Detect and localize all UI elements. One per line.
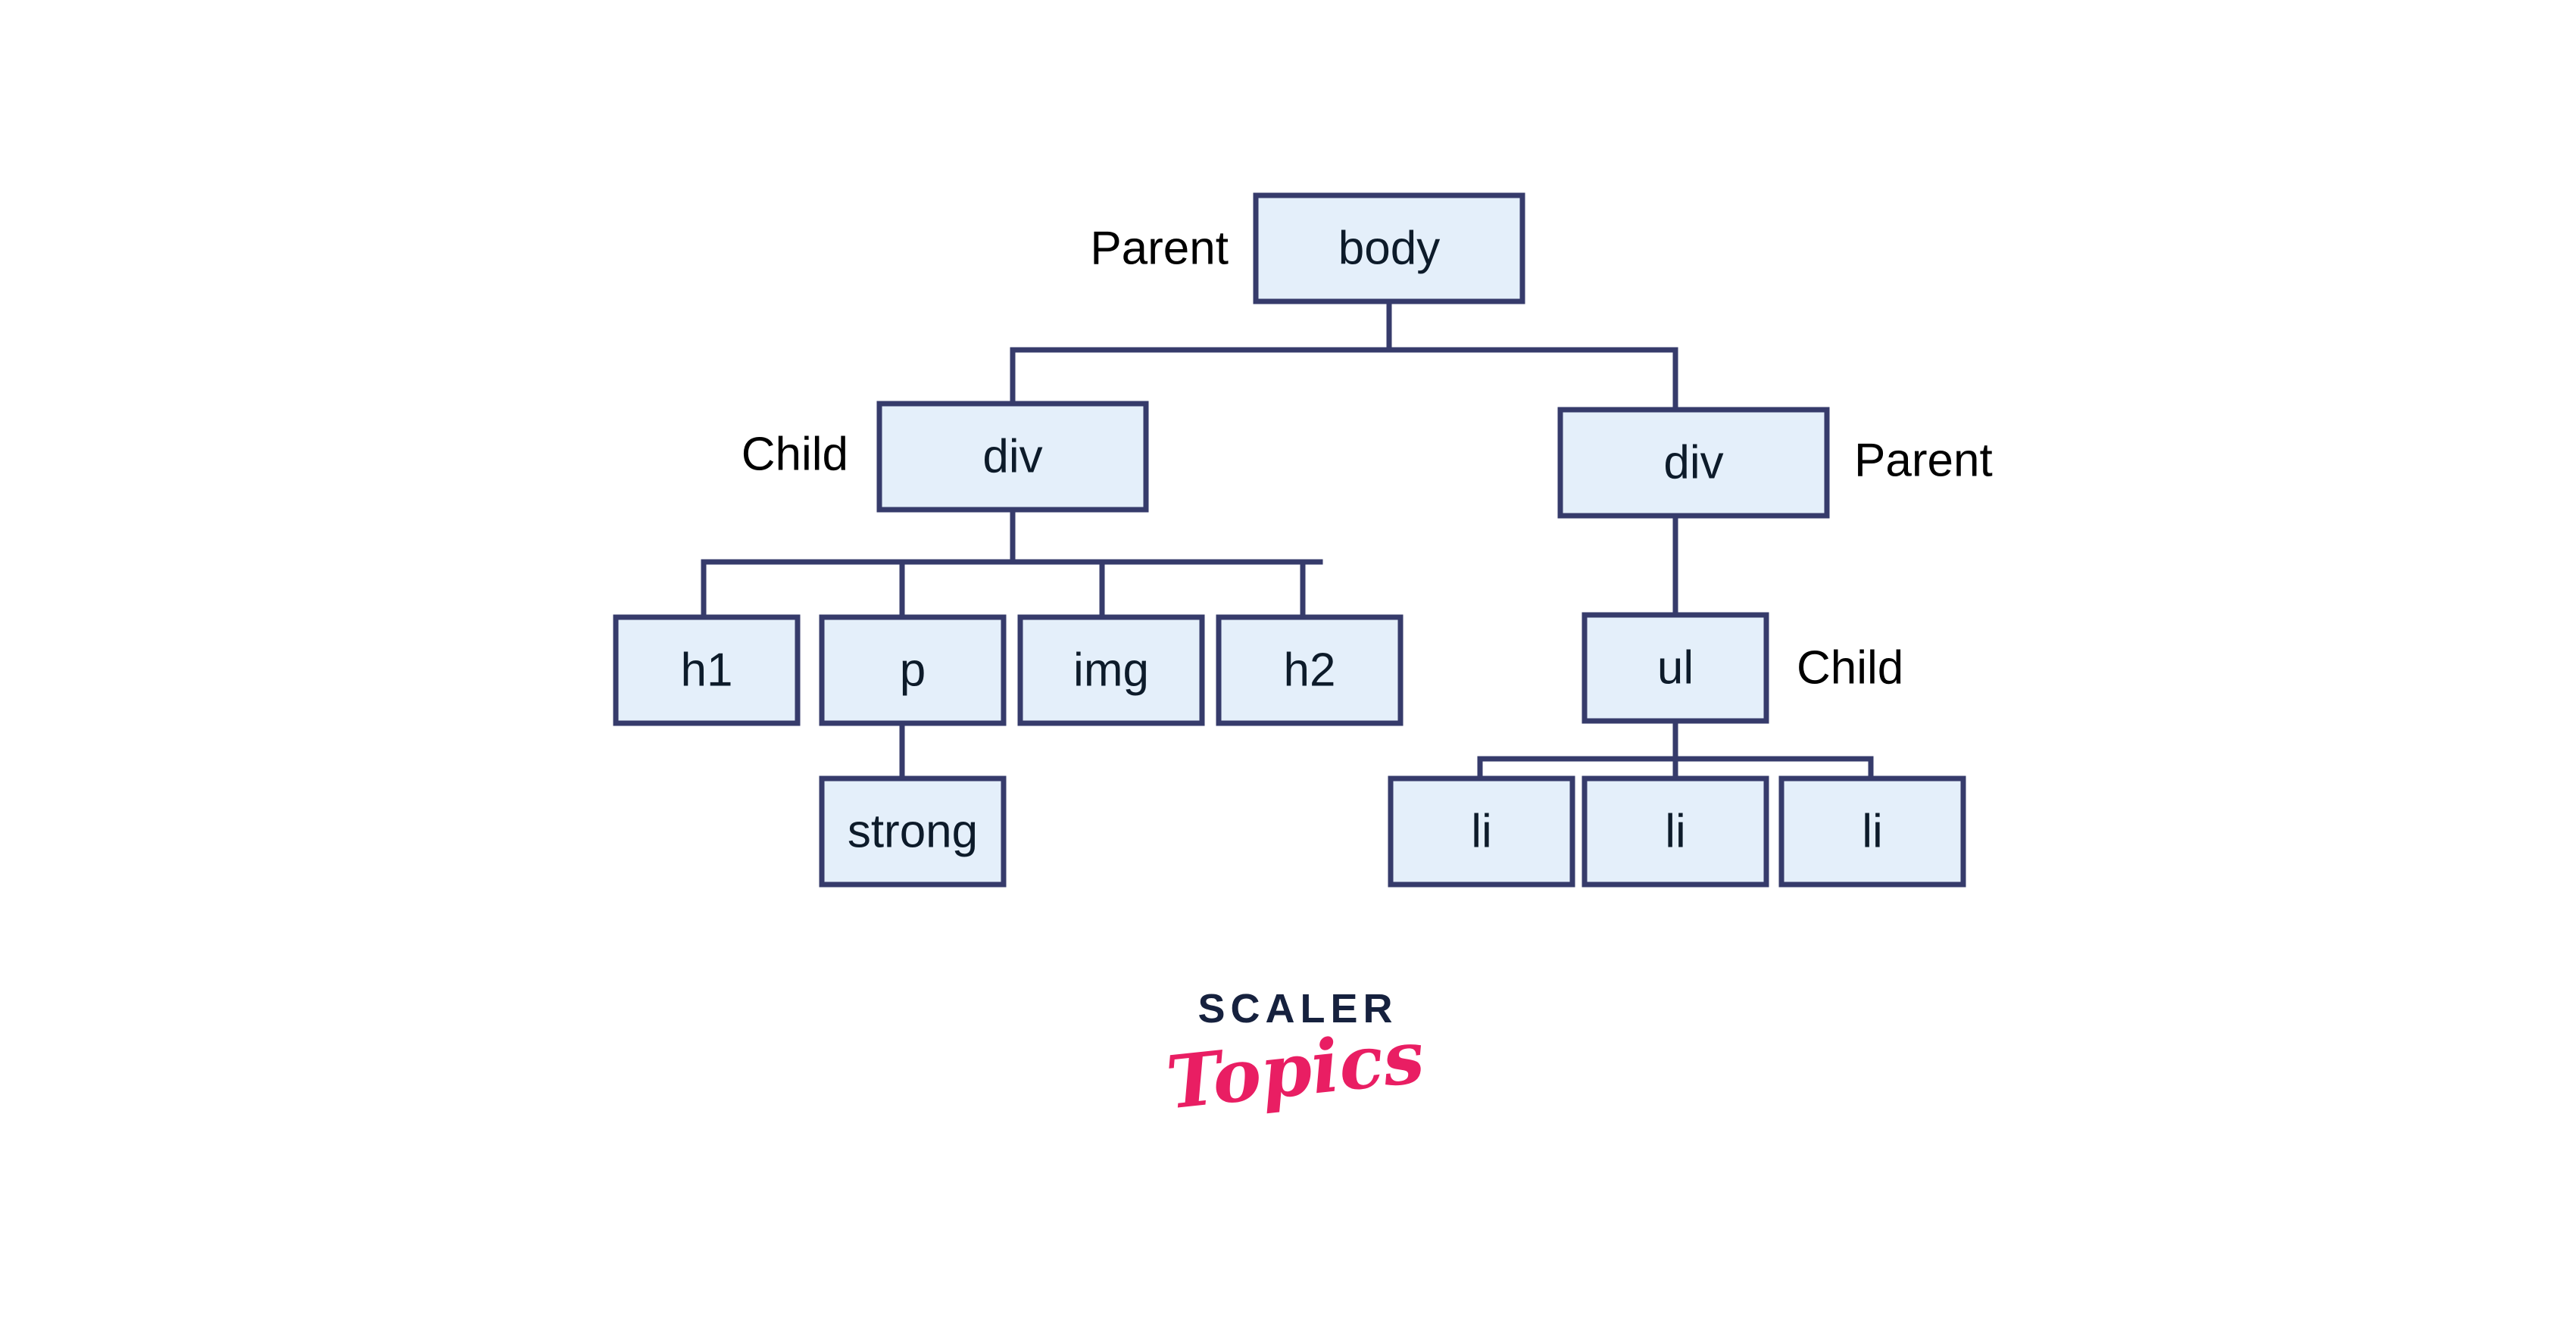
node-li-3[interactable]: li bbox=[1781, 779, 1963, 885]
diagram-canvas: body div div h1 p img h2 bbox=[0, 0, 2576, 1323]
scaler-topics-logo: SCALER Topics bbox=[1166, 988, 1424, 1178]
node-ul[interactable]: ul bbox=[1585, 615, 1766, 721]
node-p[interactable]: p bbox=[822, 617, 1004, 723]
node-body[interactable]: body bbox=[1256, 195, 1522, 301]
node-p-label: p bbox=[900, 644, 926, 696]
relation-label-div-left-child: Child bbox=[742, 428, 848, 480]
node-li-1-label: li bbox=[1471, 805, 1492, 857]
node-strong[interactable]: strong bbox=[822, 779, 1004, 885]
node-li-3-label: li bbox=[1862, 805, 1883, 857]
node-img-label: img bbox=[1073, 644, 1149, 696]
node-img[interactable]: img bbox=[1020, 617, 1202, 723]
node-h2[interactable]: h2 bbox=[1219, 617, 1400, 723]
relation-label-body-parent: Parent bbox=[1090, 222, 1229, 274]
relation-label-div-right-parent: Parent bbox=[1854, 434, 1993, 486]
node-strong-label: strong bbox=[848, 805, 978, 857]
node-div-left[interactable]: div bbox=[879, 404, 1146, 510]
node-h2-label: h2 bbox=[1284, 644, 1336, 696]
node-body-label: body bbox=[1338, 222, 1440, 274]
node-div-right-label: div bbox=[1663, 436, 1723, 488]
node-h1[interactable]: h1 bbox=[616, 617, 798, 723]
node-h1-label: h1 bbox=[681, 644, 733, 696]
node-li-2[interactable]: li bbox=[1585, 779, 1766, 885]
node-div-left-label: div bbox=[982, 430, 1042, 482]
node-li-1[interactable]: li bbox=[1391, 779, 1572, 885]
logo-topics-text: Topics bbox=[1163, 1019, 1428, 1122]
relation-label-ul-child: Child bbox=[1797, 641, 1903, 694]
node-div-right[interactable]: div bbox=[1560, 410, 1827, 516]
node-li-2-label: li bbox=[1665, 805, 1686, 857]
node-ul-label: ul bbox=[1657, 641, 1694, 694]
